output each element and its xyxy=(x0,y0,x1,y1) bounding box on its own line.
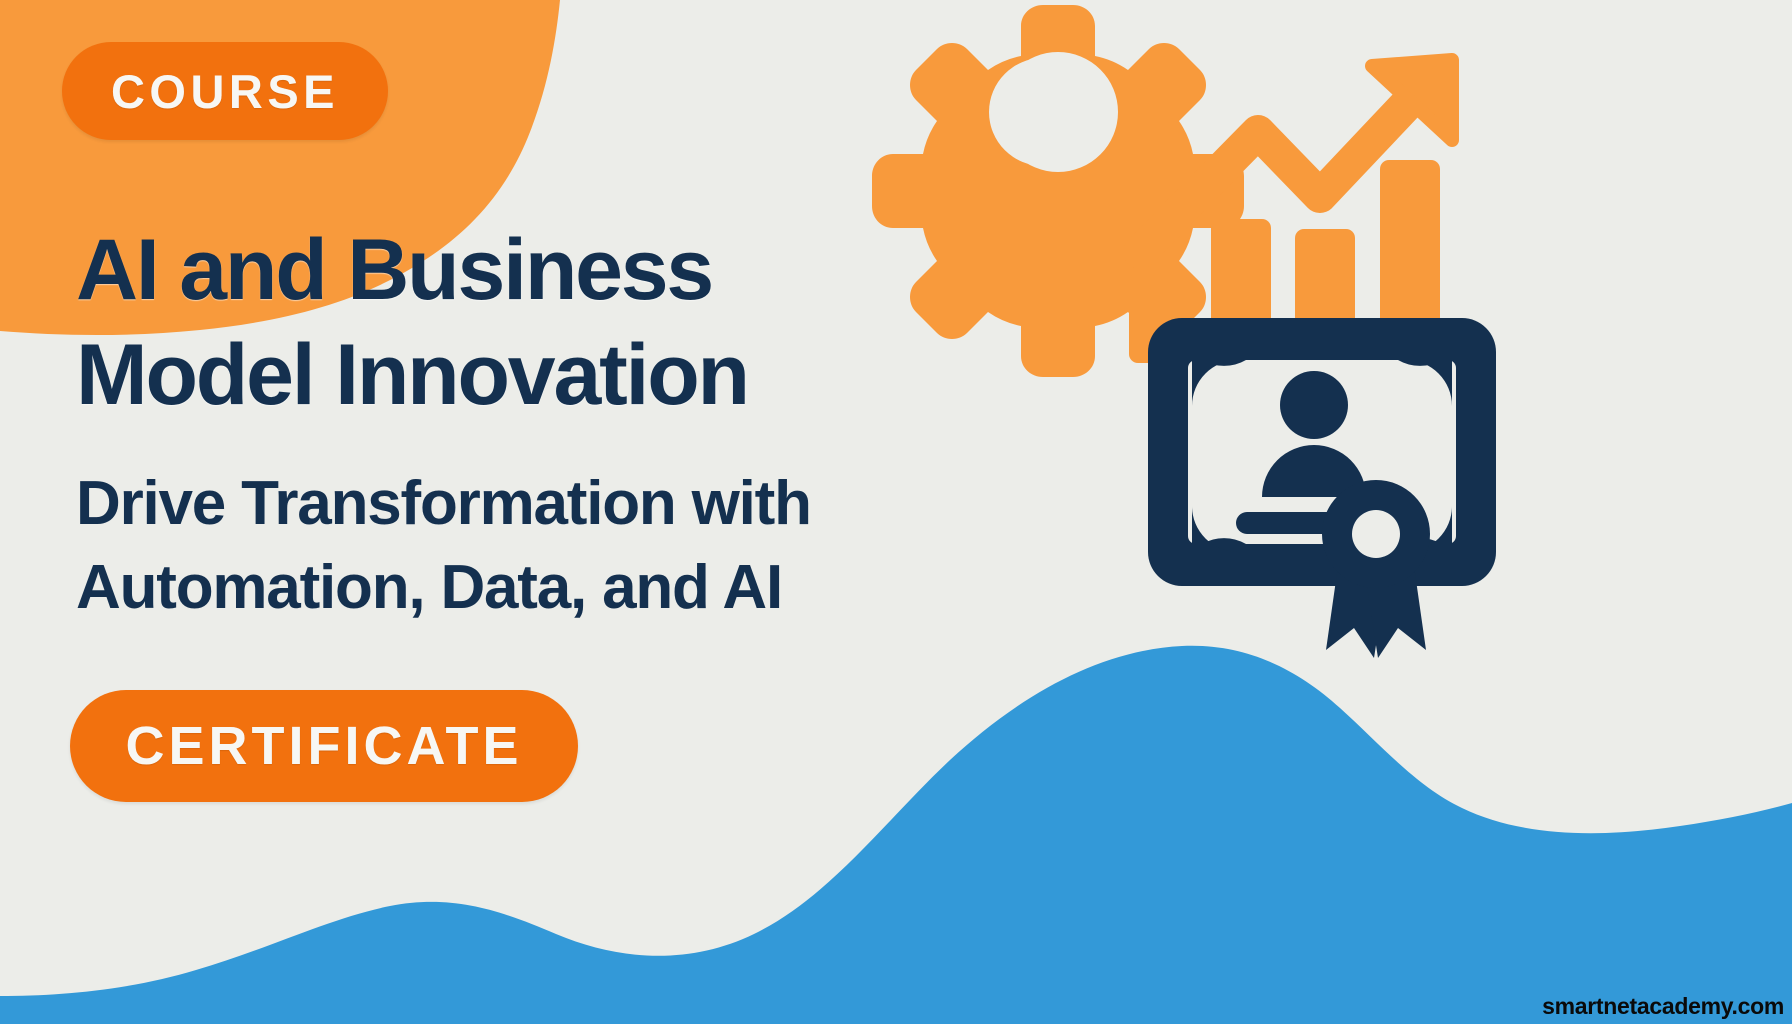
website-url: smartnetacademy.com xyxy=(1542,993,1784,1020)
illustration-group xyxy=(0,0,1792,1024)
ribbon-seal-icon xyxy=(1322,480,1430,658)
certificate-card-icon xyxy=(1148,318,1496,586)
banner-canvas: COURSE AI and Business Model Innovation … xyxy=(0,0,1792,1024)
